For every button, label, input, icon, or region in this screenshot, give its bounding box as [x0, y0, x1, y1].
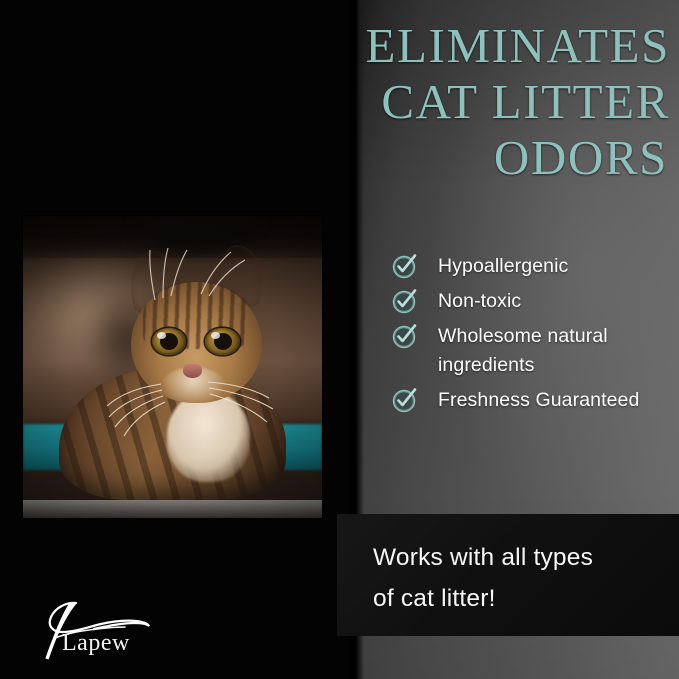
check-circle-icon	[392, 387, 418, 413]
headline: ELIMINATES CAT LITTER ODORS	[300, 18, 672, 186]
list-item-label: Freshness Guaranteed	[438, 386, 639, 415]
check-circle-icon	[392, 253, 418, 279]
kitten-litter-box-photo	[23, 216, 322, 518]
headline-line-2: CAT LITTER	[300, 74, 672, 130]
list-item: Non-toxic	[392, 287, 672, 316]
list-item: Hypoallergenic	[392, 252, 672, 281]
headline-line-1: ELIMINATES	[300, 18, 672, 74]
benefits-list: Hypoallergenic Non-toxic Wholesome n	[392, 252, 672, 421]
callout-text: Works with all types of cat litter!	[373, 537, 663, 619]
list-item: Freshness Guaranteed	[392, 386, 672, 415]
headline-line-3: ODORS	[300, 130, 672, 186]
list-item-label: Non-toxic	[438, 287, 521, 316]
brand-logo: Lapew	[22, 596, 172, 662]
advertisement-poster: ELIMINATES CAT LITTER ODORS	[0, 0, 679, 679]
check-circle-icon	[392, 323, 418, 349]
list-item-label: Hypoallergenic	[438, 252, 568, 281]
list-item: Wholesome natural ingredients	[392, 322, 672, 380]
brand-wordmark: Lapew	[62, 630, 130, 657]
photo-vignette	[23, 216, 322, 518]
check-circle-icon	[392, 288, 418, 314]
list-item-label: Wholesome natural ingredients	[438, 322, 608, 380]
